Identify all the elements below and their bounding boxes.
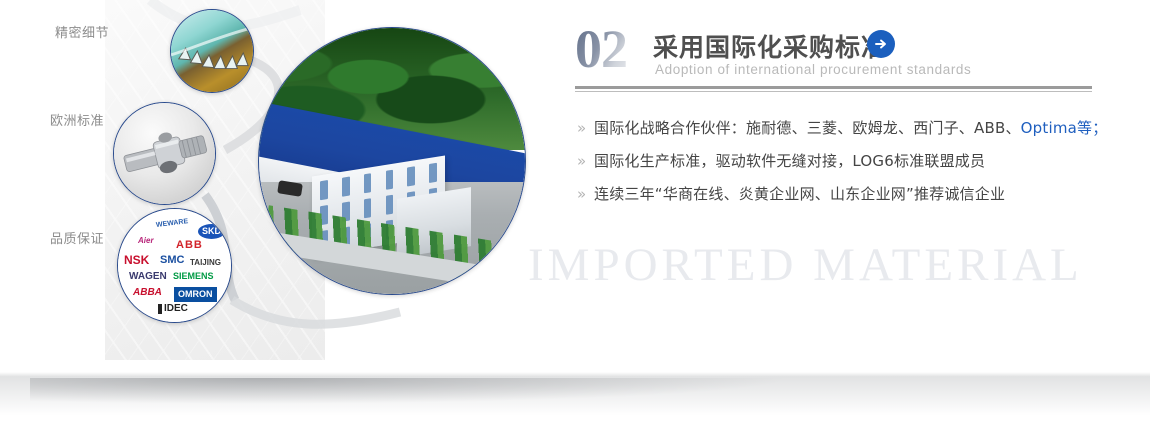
logo-aier: Aier bbox=[138, 237, 154, 245]
chevron-double-right-icon: » bbox=[577, 151, 594, 171]
list-item: » 国际化生产标准，驱动软件无缝对接，LOG6标准联盟成员 bbox=[577, 151, 1097, 171]
bottom-reflection-shadow bbox=[0, 372, 1150, 430]
factory-building-photo bbox=[258, 27, 526, 295]
list-item: » 国际化战略合作伙伴：施耐德、三菱、欧姆龙、西门子、ABB、Optima等； bbox=[577, 118, 1097, 138]
section-header: 02 采用国际化采购标准 Adoption of international p… bbox=[575, 20, 1095, 88]
ball-screw-shaft-photo bbox=[113, 102, 216, 205]
logo-abba: ABBA bbox=[133, 288, 162, 298]
list-item: » 连续三年“华商在线、炎黄企业网、山东企业网”推荐诚信企业 bbox=[577, 184, 1097, 204]
gear-closeup-photo bbox=[170, 9, 254, 93]
logo-skd: SKD bbox=[198, 224, 225, 239]
logo-wagen: WAGEN bbox=[129, 272, 167, 282]
logo-idec: IDEC bbox=[158, 304, 188, 314]
label-quality-assurance: 品质保证 bbox=[50, 228, 104, 247]
label-precision-detail: 精密细节 bbox=[55, 22, 109, 41]
promo-banner: 精密细节 欧洲标准 品质保证 bbox=[0, 0, 1150, 430]
logo-taijing: TAIJING bbox=[190, 259, 221, 267]
list-item-text-highlight: Optima等； bbox=[1021, 119, 1108, 137]
section-number: 02 bbox=[575, 18, 627, 80]
list-item-text-main: 国际化战略合作伙伴：施耐德、三菱、欧姆龙、西门子、ABB、 bbox=[594, 119, 1021, 137]
list-item-text-main: 连续三年“华商在线、炎黄企业网、山东企业网”推荐诚信企业 bbox=[594, 185, 1005, 203]
logo-nsk: NSK bbox=[124, 254, 149, 266]
logo-abb: ABB bbox=[176, 240, 203, 251]
arrow-right-icon[interactable] bbox=[867, 30, 895, 58]
feature-list: » 国际化战略合作伙伴：施耐德、三菱、欧姆龙、西门子、ABB、Optima等； … bbox=[577, 118, 1097, 217]
page-title: 采用国际化采购标准 bbox=[653, 28, 887, 64]
logo-siemens: SIEMENS bbox=[173, 272, 214, 281]
watermark-text: IMPORTED MATERIAL bbox=[528, 238, 1083, 292]
list-item-text: 国际化战略合作伙伴：施耐德、三菱、欧姆龙、西门子、ABB、Optima等； bbox=[594, 118, 1107, 138]
chevron-double-right-icon: » bbox=[577, 184, 594, 204]
content-panel: 02 采用国际化采购标准 Adoption of international p… bbox=[575, 20, 1095, 88]
list-item-text-main: 国际化生产标准，驱动软件无缝对接，LOG6标准联盟成员 bbox=[594, 152, 985, 170]
brand-logos-photo: WEWARE SKD Aier ABB NSK SMC TAIJING WAGE… bbox=[117, 208, 232, 323]
logo-smc: SMC bbox=[160, 255, 184, 266]
page-subtitle: Adoption of international procurement st… bbox=[655, 62, 971, 77]
label-european-standard: 欧洲标准 bbox=[50, 110, 104, 129]
product-collage: 精密细节 欧洲标准 品质保证 bbox=[0, 0, 560, 400]
chevron-double-right-icon: » bbox=[577, 118, 594, 138]
gear-teeth-shape bbox=[171, 10, 253, 92]
logo-omron: OMRON bbox=[174, 287, 217, 302]
header-divider bbox=[575, 86, 1092, 92]
list-item-text: 国际化生产标准，驱动软件无缝对接，LOG6标准联盟成员 bbox=[594, 151, 985, 171]
list-item-text: 连续三年“华商在线、炎黄企业网、山东企业网”推荐诚信企业 bbox=[594, 184, 1005, 204]
shaft-shape bbox=[114, 103, 215, 204]
